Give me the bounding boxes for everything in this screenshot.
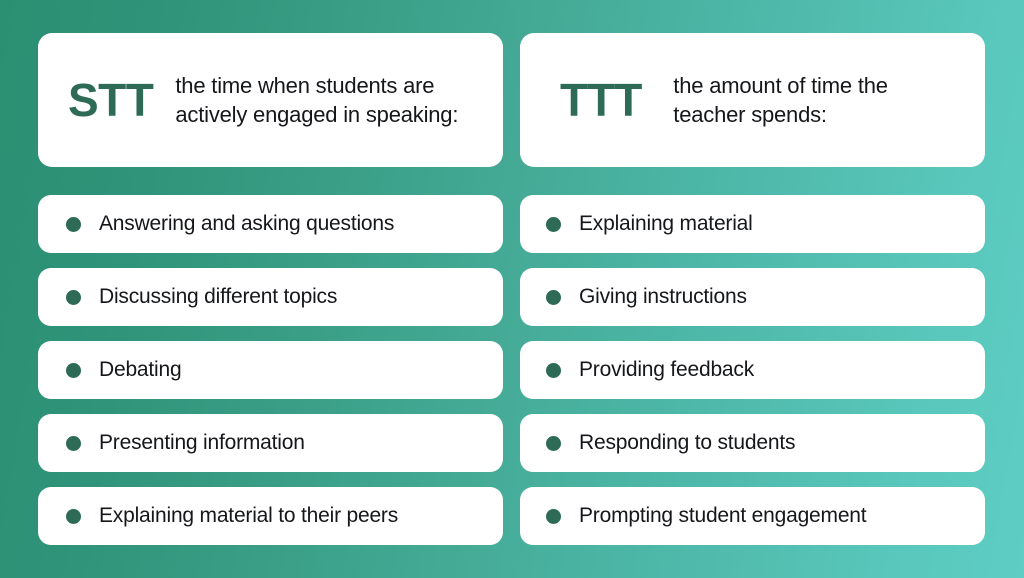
bullet-icon — [546, 363, 561, 378]
list-ttt: Explaining material Giving instructions … — [520, 167, 985, 545]
list-item[interactable]: Responding to students — [520, 414, 985, 472]
bullet-icon — [66, 363, 81, 378]
header-card-ttt: TTT the amount of time the teacher spend… — [520, 33, 985, 167]
list-item-label: Responding to students — [579, 431, 795, 455]
bullet-icon — [66, 290, 81, 305]
comparison-board: STT the time when students are actively … — [0, 0, 1024, 578]
list-item-label: Prompting student engagement — [579, 504, 866, 528]
definition-ttt: the amount of time the teacher spends: — [673, 71, 963, 130]
bullet-icon — [546, 509, 561, 524]
list-item-label: Giving instructions — [579, 285, 747, 309]
list-item-label: Debating — [99, 358, 181, 382]
list-item[interactable]: Debating — [38, 341, 503, 399]
column-stt: STT the time when students are actively … — [38, 33, 503, 545]
list-stt: Answering and asking questions Discussin… — [38, 167, 503, 545]
column-ttt: TTT the amount of time the teacher spend… — [520, 33, 985, 545]
list-item-label: Explaining material to their peers — [99, 504, 398, 528]
acronym-stt: STT — [68, 77, 153, 123]
list-item[interactable]: Giving instructions — [520, 268, 985, 326]
bullet-icon — [66, 509, 81, 524]
list-item-label: Discussing different topics — [99, 285, 337, 309]
list-item[interactable]: Explaining material to their peers — [38, 487, 503, 545]
acronym-ttt: TTT — [560, 77, 641, 123]
list-item-label: Presenting information — [99, 431, 305, 455]
list-item-label: Answering and asking questions — [99, 212, 394, 236]
list-item[interactable]: Providing feedback — [520, 341, 985, 399]
list-item[interactable]: Answering and asking questions — [38, 195, 503, 253]
list-item[interactable]: Explaining material — [520, 195, 985, 253]
list-item[interactable]: Prompting student engagement — [520, 487, 985, 545]
definition-stt: the time when students are actively enga… — [175, 71, 481, 130]
list-item-label: Explaining material — [579, 212, 753, 236]
list-item[interactable]: Presenting information — [38, 414, 503, 472]
bullet-icon — [546, 217, 561, 232]
bullet-icon — [546, 290, 561, 305]
bullet-icon — [66, 217, 81, 232]
bullet-icon — [546, 436, 561, 451]
list-item-label: Providing feedback — [579, 358, 754, 382]
bullet-icon — [66, 436, 81, 451]
header-card-stt: STT the time when students are actively … — [38, 33, 503, 167]
list-item[interactable]: Discussing different topics — [38, 268, 503, 326]
